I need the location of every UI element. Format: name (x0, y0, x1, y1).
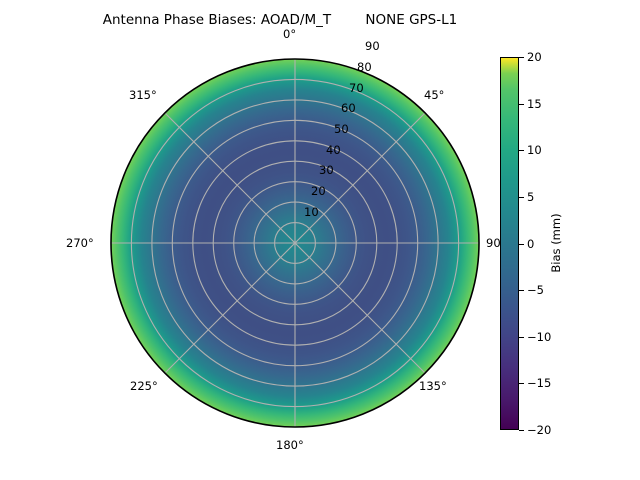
radial-tick-40: 40 (326, 143, 341, 157)
colorbar-axis-label: Bias (mm) (549, 213, 563, 272)
colorbar-ticklabel-minus10: −10 (527, 330, 551, 344)
colorbar: 20 15 10 5 0 −5 −10 −15 −20 (500, 57, 519, 430)
page-title: Antenna Phase Biases: AOAD/M_T NONE GPS-… (0, 12, 560, 28)
colorbar-tick-15 (519, 104, 524, 105)
angle-tick-270: 270° (66, 236, 94, 250)
colorbar-tick-minus20 (519, 430, 524, 431)
angle-tick-135: 135° (419, 379, 447, 393)
colorbar-ticklabel-minus20: −20 (527, 423, 551, 437)
figure-canvas: Antenna Phase Biases: AOAD/M_T NONE GPS-… (0, 0, 640, 480)
colorbar-tick-10 (519, 150, 524, 151)
radial-tick-60: 60 (341, 101, 356, 115)
angle-tick-180: 180° (276, 438, 304, 452)
radial-tick-70: 70 (349, 81, 364, 95)
colorbar-tick-minus10 (519, 337, 524, 338)
radial-tick-80: 80 (357, 60, 372, 74)
colorbar-tick-minus15 (519, 383, 524, 384)
colorbar-ticklabel-minus15: −15 (527, 376, 551, 390)
radial-tick-90: 90 (365, 39, 380, 53)
angular-gridlines (111, 59, 479, 427)
radial-tick-50: 50 (334, 122, 349, 136)
colorbar-tick-minus5 (519, 290, 524, 291)
colorbar-ticklabel-20: 20 (527, 50, 542, 64)
colorbar-ticklabel-10: 10 (527, 143, 542, 157)
radial-tick-30: 30 (319, 163, 334, 177)
colorbar-ticklabel-5: 5 (527, 190, 534, 204)
angle-tick-225: 225° (130, 379, 158, 393)
colorbar-tick-20 (519, 57, 524, 58)
angle-tick-45: 45° (424, 88, 444, 102)
colorbar-ticklabel-0: 0 (527, 237, 534, 251)
colorbar-tick-0 (519, 244, 524, 245)
radial-tick-10: 10 (304, 205, 319, 219)
angle-tick-90: 90 (486, 236, 501, 250)
colorbar-tick-5 (519, 197, 524, 198)
angle-tick-0: 0° (283, 27, 296, 41)
colorbar-ticklabel-minus5: −5 (527, 283, 544, 297)
colorbar-gradient (500, 57, 519, 430)
radial-tick-20: 20 (311, 184, 326, 198)
colorbar-ticklabel-15: 15 (527, 97, 542, 111)
angle-tick-315: 315° (129, 88, 157, 102)
polar-axes: 10 20 30 40 50 60 70 80 90 (110, 58, 480, 428)
polar-plot-svg (110, 58, 480, 428)
